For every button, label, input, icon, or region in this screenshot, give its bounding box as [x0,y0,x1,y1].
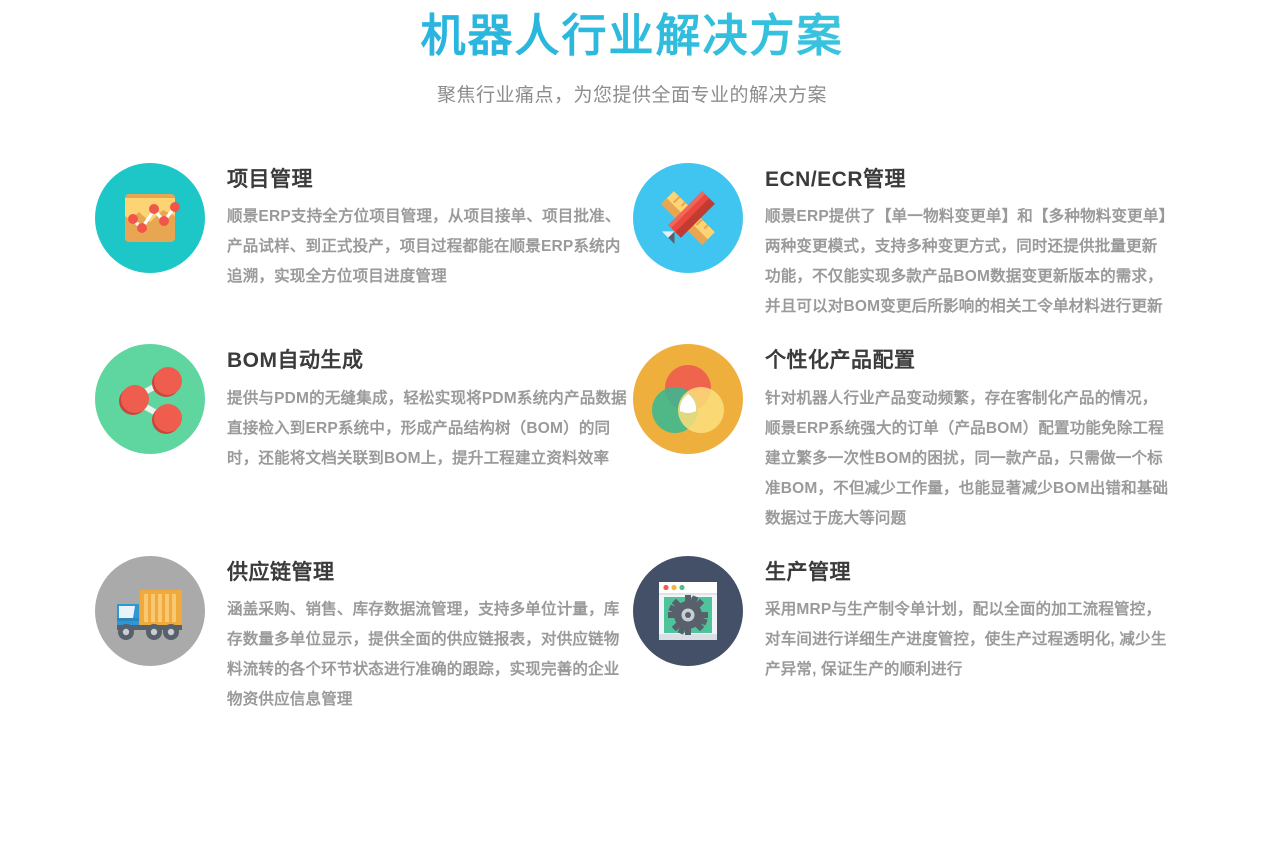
card-body: 供应链管理 涵盖采购、销售、库存数据流管理，支持多单位计量，库存数量多单位显示，… [227,556,633,715]
chart-analytics-icon [95,163,205,273]
card-title: 生产管理 [765,560,1171,585]
card-body: BOM自动生成 提供与PDM的无缝集成，轻松实现将PDM系统内产品数据直接检入到… [227,344,633,473]
card-title: 供应链管理 [227,560,633,585]
feature-card-production-management[interactable]: 生产管理 采用MRP与生产制令单计划，配以全面的加工流程管控，对车间进行详细生产… [633,556,1171,715]
delivery-truck-glyph [95,556,205,666]
delivery-truck-icon [95,556,205,666]
feature-card-ecn-ecr-management[interactable]: ECN/ECR管理 顺景ERP提供了【单一物料变更单】和【多种物料变更单】两种变… [633,163,1171,322]
share-network-glyph [95,344,205,454]
pencil-ruler-icon [633,163,743,273]
card-description: 顺景ERP支持全方位项目管理，从项目接单、项目批准、产品试样、到正式投产，项目过… [227,202,633,292]
card-description: 顺景ERP提供了【单一物料变更单】和【多种物料变更单】两种变更模式，支持多种变更… [765,202,1171,322]
share-network-icon [95,344,205,454]
feature-card-bom-auto-generation[interactable]: BOM自动生成 提供与PDM的无缝集成，轻松实现将PDM系统内产品数据直接检入到… [95,344,633,533]
feature-card-supply-chain-management[interactable]: 供应链管理 涵盖采购、销售、库存数据流管理，支持多单位计量，库存数量多单位显示，… [95,556,633,715]
solutions-page: 机器人行业解决方案 聚焦行业痛点，为您提供全面专业的解决方案 [0,0,1264,860]
card-description: 针对机器人行业产品变动频繁，存在客制化产品的情况，顺景ERP系统强大的订单（产品… [765,384,1171,534]
card-body: 项目管理 顺景ERP支持全方位项目管理，从项目接单、项目批准、产品试样、到正式投… [227,163,633,292]
card-body: 个性化产品配置 针对机器人行业产品变动频繁，存在客制化产品的情况，顺景ERP系统… [765,344,1171,533]
card-title: 项目管理 [227,167,633,192]
browser-gear-icon [633,556,743,666]
card-description: 涵盖采购、销售、库存数据流管理，支持多单位计量，库存数量多单位显示，提供全面的供… [227,595,633,715]
feature-card-grid: 项目管理 顺景ERP支持全方位项目管理，从项目接单、项目批准、产品试样、到正式投… [0,163,1264,737]
card-description: 提供与PDM的无缝集成，轻松实现将PDM系统内产品数据直接检入到ERP系统中，形… [227,384,633,474]
feature-card-product-configuration[interactable]: 个性化产品配置 针对机器人行业产品变动频繁，存在客制化产品的情况，顺景ERP系统… [633,344,1171,533]
card-title: BOM自动生成 [227,348,633,373]
page-title: 机器人行业解决方案 [0,8,1264,64]
page-subtitle: 聚焦行业痛点，为您提供全面专业的解决方案 [0,80,1264,107]
venn-diagram-glyph [633,344,743,454]
venn-diagram-icon [633,344,743,454]
card-body: ECN/ECR管理 顺景ERP提供了【单一物料变更单】和【多种物料变更单】两种变… [765,163,1171,322]
page-header: 机器人行业解决方案 聚焦行业痛点，为您提供全面专业的解决方案 [0,0,1264,107]
feature-card-project-management[interactable]: 项目管理 顺景ERP支持全方位项目管理，从项目接单、项目批准、产品试样、到正式投… [95,163,633,322]
card-body: 生产管理 采用MRP与生产制令单计划，配以全面的加工流程管控，对车间进行详细生产… [765,556,1171,685]
card-title: 个性化产品配置 [765,348,1171,373]
card-title: ECN/ECR管理 [765,167,1171,192]
pencil-ruler-glyph [633,163,743,273]
card-description: 采用MRP与生产制令单计划，配以全面的加工流程管控，对车间进行详细生产进度管控，… [765,595,1171,685]
browser-gear-glyph [633,556,743,666]
chart-analytics-glyph [95,163,205,273]
